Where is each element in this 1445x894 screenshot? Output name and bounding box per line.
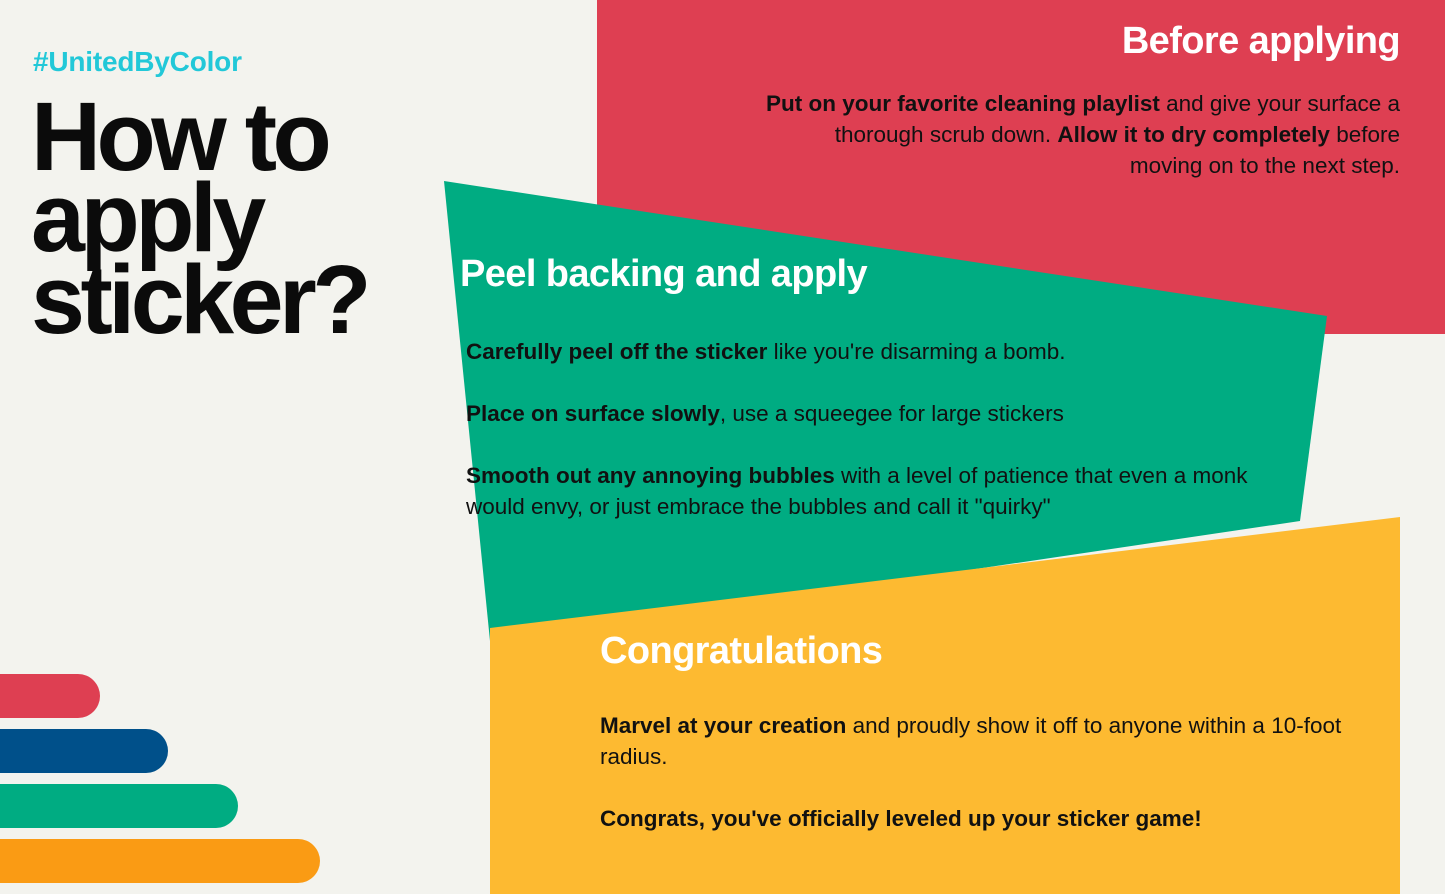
decorative-bar-stack — [0, 674, 360, 894]
decor-bar-red — [0, 674, 100, 718]
page-title-line-3: sticker? — [31, 259, 431, 340]
body-before-applying: Put on your favorite cleaning playlist a… — [760, 88, 1400, 181]
hashtag-label: #UnitedByColor — [33, 46, 242, 78]
decor-bar-orange — [0, 839, 320, 883]
decor-bar-navy — [0, 729, 168, 773]
body-congratulations: Marvel at your creation and proudly show… — [600, 710, 1360, 834]
decor-bar-green — [0, 784, 238, 828]
body-peel-backing-and-apply: Carefully peel off the sticker like you'… — [466, 336, 1296, 522]
heading-peel-backing-and-apply: Peel backing and apply — [460, 255, 867, 295]
heading-congratulations: Congratulations — [600, 632, 882, 672]
page-title: How to apply sticker? — [31, 96, 431, 340]
heading-before-applying: Before applying — [1122, 22, 1400, 62]
infographic-canvas: #UnitedByColor How to apply sticker? Bef… — [0, 0, 1445, 894]
